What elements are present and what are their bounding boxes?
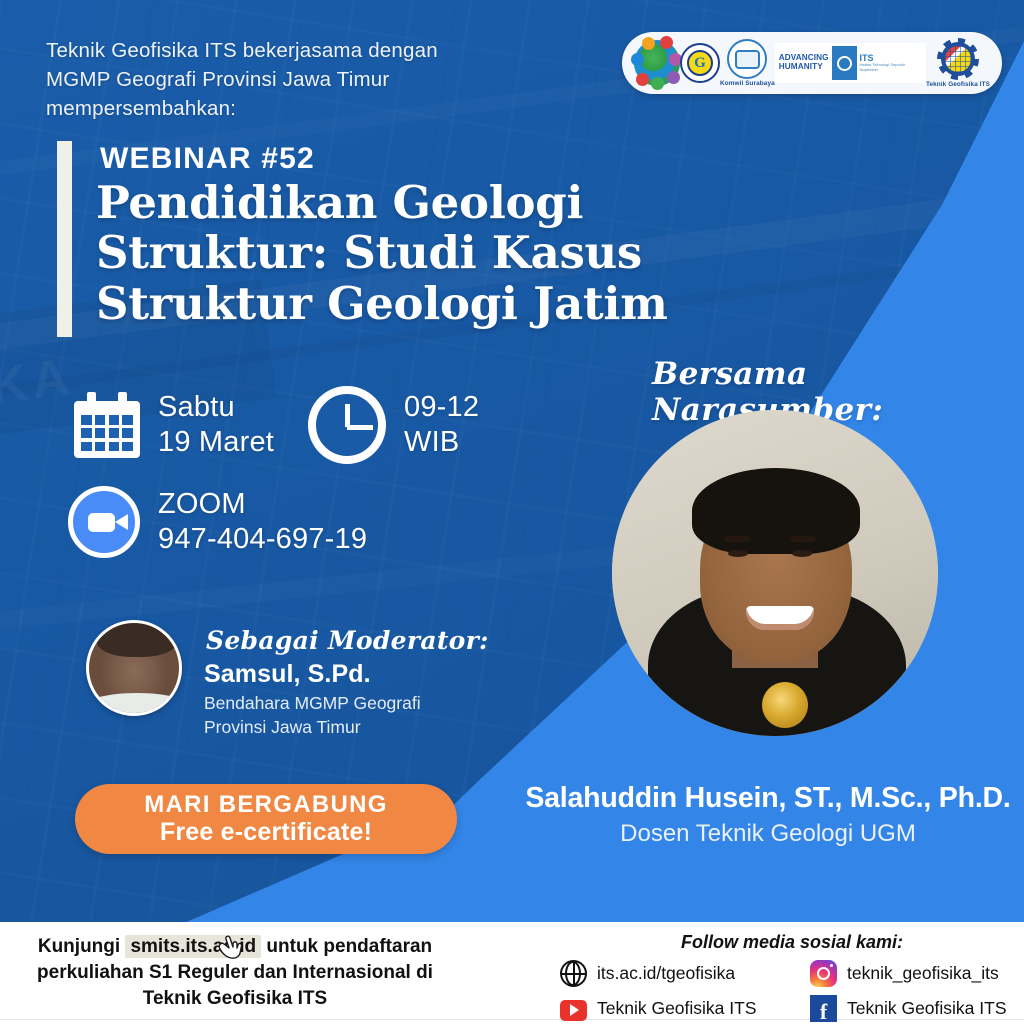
webinar-poster: KA Teknik Geofisika ITS bekerjasama deng… xyxy=(0,0,1024,1024)
join-cta-button[interactable]: MARI BERGABUNG Free e-certificate! xyxy=(75,784,457,854)
registration-line-2: perkuliahan S1 Reguler dan Internasional… xyxy=(0,960,470,986)
date-info-row: Sabtu 19 Maret xyxy=(74,390,274,461)
intro-line-3: mempersembahkan: xyxy=(46,94,566,123)
zoom-info-row: ZOOM 947-404-697-19 xyxy=(68,486,367,558)
speaker-name: Salahuddin Husein, ST., M.Sc., Ph.D. xyxy=(512,782,1024,815)
date-day: Sabtu xyxy=(158,390,274,425)
social-media-title: Follow media sosial kami: xyxy=(560,932,1024,953)
moderator-role: Bendahara MGMP Geografi Provinsi Jawa Ti… xyxy=(204,692,504,740)
title-accent-bar xyxy=(57,141,72,337)
zoom-text: ZOOM 947-404-697-19 xyxy=(158,487,367,558)
speaker-role: Dosen Teknik Geologi UGM xyxy=(512,820,1024,848)
intro-text: Teknik Geofisika ITS bekerjasama dengan … xyxy=(46,36,566,123)
page-title: Pendidikan Geologi Struktur: Studi Kasus… xyxy=(96,178,816,329)
date-text: Sabtu 19 Maret xyxy=(158,390,274,461)
time-value: 09-12 xyxy=(404,390,479,425)
facebook-icon: f xyxy=(810,995,837,1022)
moderator-role-line-1: Bendahara MGMP Geografi xyxy=(204,692,504,716)
logo-bar: G Komwil Surabaya ADVANCING HUMANITY ITS… xyxy=(622,32,1002,94)
youtube-icon xyxy=(560,1000,587,1021)
pointing-hand-icon xyxy=(216,932,250,962)
calendar-icon xyxy=(74,392,140,458)
youtube-label: Teknik Geofisika ITS xyxy=(597,998,757,1019)
social-media-section: Follow media sosial kami: its.ac.id/tgeo… xyxy=(560,932,1024,1022)
komwil-surabaya-logo: Komwil Surabaya xyxy=(720,39,775,87)
meeting-id: 947-404-697-19 xyxy=(158,522,367,557)
moderator-role-line-2: Provinsi Jawa Timur xyxy=(204,716,504,740)
mgmp-globe-logo xyxy=(634,40,680,86)
social-link-facebook[interactable]: f Teknik Geofisika ITS xyxy=(810,995,1024,1022)
moderator-avatar xyxy=(86,620,182,716)
moderator-label: Sebagai Moderator: xyxy=(206,626,489,655)
teknik-geofisika-its-caption: Teknik Geofisika ITS xyxy=(926,81,990,88)
clock-icon xyxy=(308,386,386,464)
instagram-label: teknik_geofisika_its xyxy=(847,963,999,984)
its-advancing-humanity-logo: ADVANCING HUMANITY ITS Institut Teknolog… xyxy=(775,43,926,83)
instagram-icon xyxy=(810,960,837,987)
its-subtext: Institut Teknologi Sepuluh Nopember xyxy=(860,63,922,72)
speaker-avatar xyxy=(612,410,938,736)
time-zone: WIB xyxy=(404,425,479,460)
platform-name: ZOOM xyxy=(158,487,367,522)
registration-line-3: Teknik Geofisika ITS xyxy=(0,986,470,1012)
teknik-geofisika-its-logo: Teknik Geofisika ITS xyxy=(926,38,990,88)
facebook-label: Teknik Geofisika ITS xyxy=(847,998,1007,1019)
time-info-row: 09-12 WIB xyxy=(308,386,479,464)
cta-line-2: Free e-certificate! xyxy=(160,818,372,846)
igi-seal-logo: G xyxy=(680,43,720,83)
intro-line-1: Teknik Geofisika ITS bekerjasama dengan xyxy=(46,36,566,65)
website-label: its.ac.id/tgeofisika xyxy=(597,963,735,984)
intro-line-2: MGMP Geografi Provinsi Jawa Timur xyxy=(46,65,566,94)
social-link-instagram[interactable]: teknik_geofisika_its xyxy=(810,960,1024,987)
social-link-website[interactable]: its.ac.id/tgeofisika xyxy=(560,960,810,987)
footer: Kunjungi smits.its.ac.id untuk pendaftar… xyxy=(0,922,1024,1024)
globe-icon xyxy=(560,960,587,987)
webinar-number: WEBINAR #52 xyxy=(100,142,315,176)
registration-prefix: Kunjungi xyxy=(38,936,120,957)
moderator-name: Samsul, S.Pd. xyxy=(204,660,371,689)
cta-line-1: MARI BERGABUNG xyxy=(144,792,388,818)
humanity-label: HUMANITY xyxy=(779,63,829,72)
registration-suffix: untuk pendaftaran xyxy=(266,936,432,957)
time-text: 09-12 WIB xyxy=(404,390,479,461)
date-value: 19 Maret xyxy=(158,425,274,460)
social-link-youtube[interactable]: Teknik Geofisika ITS xyxy=(560,995,810,1022)
komwil-surabaya-caption: Komwil Surabaya xyxy=(720,80,775,87)
registration-info: Kunjungi smits.its.ac.id untuk pendaftar… xyxy=(0,934,470,1011)
zoom-camera-icon xyxy=(68,486,140,558)
